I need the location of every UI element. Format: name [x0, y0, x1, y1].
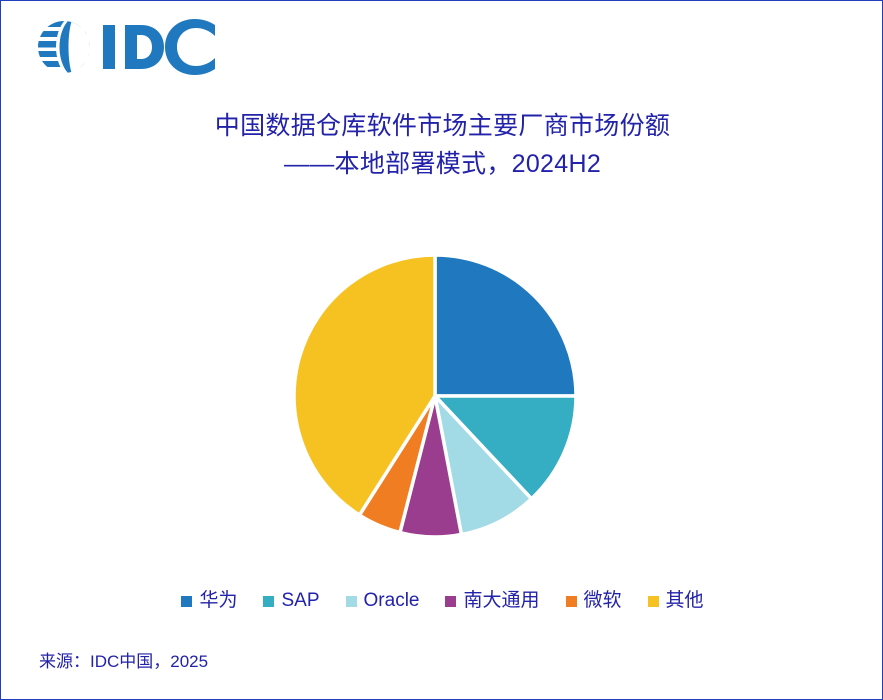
legend-swatch-icon: [648, 596, 659, 607]
idc-logo: [37, 19, 215, 75]
chart-title-line-1: 中国数据仓库软件市场主要厂商市场份额: [1, 107, 883, 145]
legend-swatch-icon: [445, 596, 456, 607]
legend-item-label: SAP: [281, 590, 319, 612]
legend-swatch-icon: [263, 596, 274, 607]
legend-item-label: 微软: [584, 590, 622, 612]
legend-item-label: 华为: [199, 590, 237, 612]
legend-item-label: 其他: [666, 590, 704, 612]
idc-wordmark: [103, 19, 215, 75]
globe-icon: [37, 19, 95, 75]
legend-swatch-icon: [181, 596, 192, 607]
slide-canvas: 中国数据仓库软件市场主要厂商市场份额 ——本地部署模式，2024H2 华为SAP…: [0, 0, 883, 700]
legend-item[interactable]: SAP: [263, 590, 319, 612]
legend-item-label: 南大通用: [463, 590, 539, 612]
legend-item[interactable]: 微软: [566, 590, 622, 612]
legend-item-label: Oracle: [364, 590, 420, 612]
chart-title-line-2: ——本地部署模式，2024H2: [1, 145, 883, 183]
legend-swatch-icon: [346, 596, 357, 607]
legend-item[interactable]: 其他: [648, 590, 704, 612]
legend-item[interactable]: 南大通用: [445, 590, 539, 612]
idc-logo-graphic: [37, 19, 215, 75]
pie-chart-graphic: [293, 254, 577, 538]
pie-slice[interactable]: [435, 255, 576, 396]
legend-item[interactable]: Oracle: [346, 590, 420, 612]
chart-legend: 华为SAPOracle南大通用微软其他: [1, 590, 883, 612]
legend-swatch-icon: [566, 596, 577, 607]
page-title: 中国数据仓库软件市场主要厂商市场份额 ——本地部署模式，2024H2: [1, 107, 883, 183]
pie-chart: [293, 254, 577, 538]
source-note: 来源：IDC中国，2025: [39, 651, 208, 673]
legend-item[interactable]: 华为: [181, 590, 237, 612]
